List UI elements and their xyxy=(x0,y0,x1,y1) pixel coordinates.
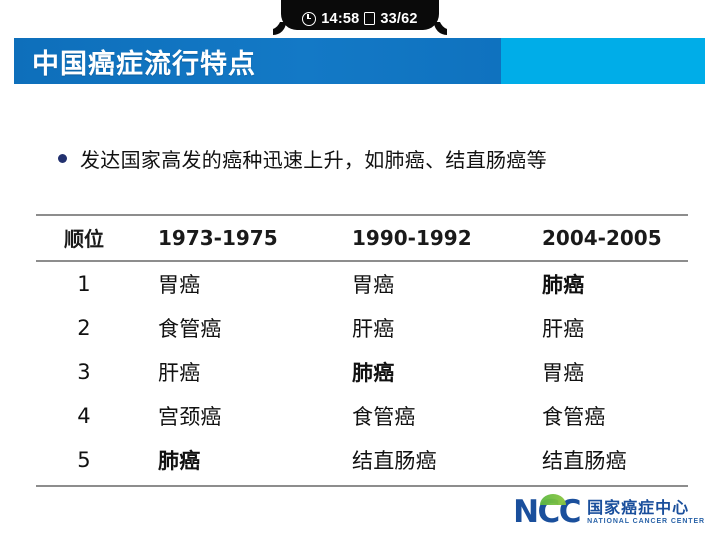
status-time: 14:58 xyxy=(321,12,359,27)
logo-mark: NCC xyxy=(513,497,580,528)
page-icon xyxy=(364,12,375,25)
cell-1973-1975: 食管癌 xyxy=(132,306,328,350)
cell-2004-2005: 肺癌 xyxy=(524,261,688,306)
cell-1973-1975: 宫颈癌 xyxy=(132,394,328,438)
cell-1973-1975: 肺癌 xyxy=(132,438,328,486)
cell-rank: 4 xyxy=(36,394,132,438)
table-header: 顺位 1973-1975 1990-1992 2004-2005 xyxy=(36,215,688,261)
slide-title-bar: 中国癌症流行特点 xyxy=(14,38,705,84)
cell-rank: 2 xyxy=(36,306,132,350)
clock-icon xyxy=(302,12,316,26)
cell-1990-1992: 肝癌 xyxy=(328,306,524,350)
table-row: 2食管癌肝癌肝癌 xyxy=(36,306,688,350)
page-title: 中国癌症流行特点 xyxy=(32,42,256,81)
cell-2004-2005: 食管癌 xyxy=(524,394,688,438)
title-block-accent xyxy=(501,38,705,84)
cell-1990-1992: 胃癌 xyxy=(328,261,524,306)
cell-1990-1992: 结直肠癌 xyxy=(328,438,524,486)
logo-name-en: NATIONAL CANCER CENTER xyxy=(587,518,705,525)
cell-1973-1975: 肝癌 xyxy=(132,350,328,394)
cell-2004-2005: 肝癌 xyxy=(524,306,688,350)
bullet-point: 发达国家高发的癌种迅速上升，如肺癌、结直肠癌等 xyxy=(58,144,547,173)
cell-rank: 5 xyxy=(36,438,132,486)
table-header-row: 顺位 1973-1975 1990-1992 2004-2005 xyxy=(36,215,688,261)
organization-logo: NCC 国家癌症中心 NATIONAL CANCER CENTER xyxy=(513,497,705,528)
table-row: 3肝癌肺癌胃癌 xyxy=(36,350,688,394)
cell-2004-2005: 胃癌 xyxy=(524,350,688,394)
cancer-rank-table: 顺位 1973-1975 1990-1992 2004-2005 1胃癌胃癌肺癌… xyxy=(36,214,688,487)
bullet-dot-icon xyxy=(58,154,67,163)
cell-rank: 3 xyxy=(36,350,132,394)
cell-1973-1975: 胃癌 xyxy=(132,261,328,306)
cell-rank: 1 xyxy=(36,261,132,306)
title-block-primary: 中国癌症流行特点 xyxy=(14,38,501,84)
cell-1990-1992: 食管癌 xyxy=(328,394,524,438)
cell-1990-1992: 肺癌 xyxy=(328,350,524,394)
column-header-1990-1992: 1990-1992 xyxy=(328,215,524,261)
cell-2004-2005: 结直肠癌 xyxy=(524,438,688,486)
status-pill: 14:58 33/62 xyxy=(281,0,439,30)
table-row: 1胃癌胃癌肺癌 xyxy=(36,261,688,306)
column-header-2004-2005: 2004-2005 xyxy=(524,215,688,261)
slide-canvas: 中国癌症流行特点 发达国家高发的癌种迅速上升，如肺癌、结直肠癌等 顺位 1973… xyxy=(0,30,720,536)
column-header-1973-1975: 1973-1975 xyxy=(132,215,328,261)
status-bar: 14:58 33/62 xyxy=(0,0,720,30)
column-header-rank: 顺位 xyxy=(36,215,132,261)
table-row: 4宫颈癌食管癌食管癌 xyxy=(36,394,688,438)
bullet-text: 发达国家高发的癌种迅速上升，如肺癌、结直肠癌等 xyxy=(80,144,547,173)
table-body: 1胃癌胃癌肺癌2食管癌肝癌肝癌3肝癌肺癌胃癌4宫颈癌食管癌食管癌5肺癌结直肠癌结… xyxy=(36,261,688,486)
logo-name-cn: 国家癌症中心 xyxy=(587,500,705,517)
page-counter: 33/62 xyxy=(380,12,417,27)
table-row: 5肺癌结直肠癌结直肠癌 xyxy=(36,438,688,486)
